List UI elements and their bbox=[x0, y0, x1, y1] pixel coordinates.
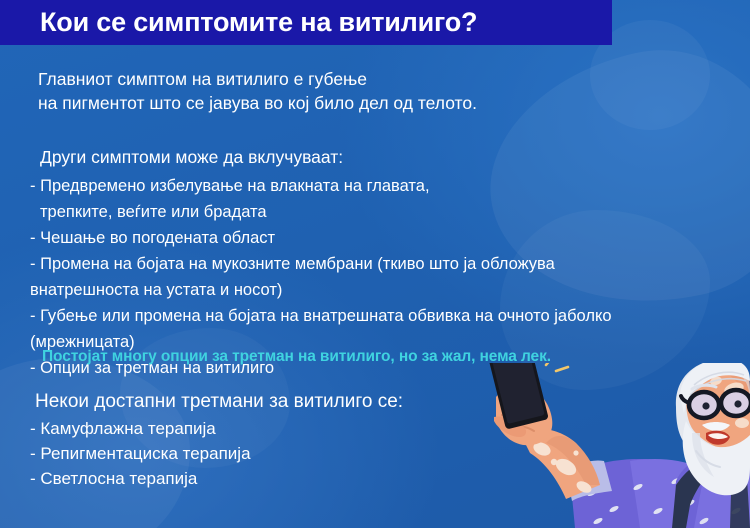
highlight-statement: Постојат многу опции за третман на витил… bbox=[42, 348, 551, 366]
intro-line-1: Главниот симптом на витилиго е губење bbox=[38, 67, 367, 91]
list-item: трепките, веѓите или брадата bbox=[30, 199, 730, 225]
symptoms-subheading: Други симптоми може да вклучуваат: bbox=[40, 145, 343, 169]
elderly-man-selfie-illustration bbox=[480, 363, 750, 528]
poster-canvas: Кои се симптомите на витилиго? Главниот … bbox=[0, 0, 750, 528]
intro-line-2: на пигментот што се јавува во кој било д… bbox=[38, 91, 477, 115]
list-item: - Светлосна терапија bbox=[30, 466, 403, 491]
list-item: - Чешање во погодената област bbox=[30, 225, 730, 251]
page-title: Кои се симптомите на витилиго? bbox=[40, 0, 477, 45]
list-item: - Промена на бојата на мукозните мембран… bbox=[30, 251, 730, 277]
list-item: - Предвремено избелување на влакната на … bbox=[30, 173, 730, 199]
list-item: - Камуфлажна терапија bbox=[30, 416, 403, 441]
treatments-section: Некои достапни третмани за витилиго се: … bbox=[30, 388, 403, 491]
list-item: внатрешноста на устата и носот) bbox=[30, 277, 730, 303]
list-item: - Губење или промена на бојата на внатре… bbox=[30, 303, 730, 329]
list-item: - Репигментациска терапија bbox=[30, 441, 403, 466]
title-banner: Кои се симптомите на витилиго? bbox=[0, 0, 612, 45]
treatments-heading: Некои достапни третмани за витилиго се: bbox=[30, 388, 403, 416]
